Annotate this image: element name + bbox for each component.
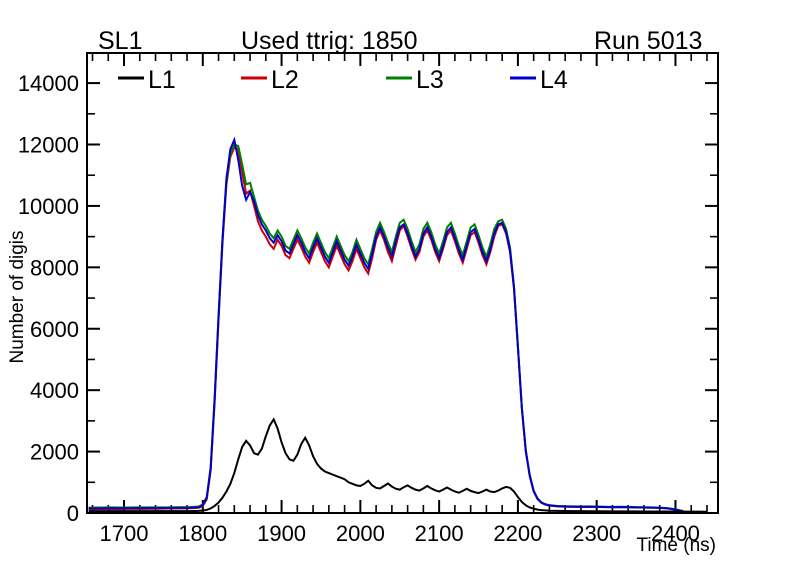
y-tick-label: 2000: [30, 440, 79, 465]
y-tick-label: 10000: [18, 194, 79, 219]
y-tick-label: 14000: [18, 71, 79, 96]
root-plot-svg: SL1 Used ttrig: 1850 Run 5013 Number of …: [0, 0, 796, 572]
y-tick-label: 8000: [30, 255, 79, 280]
y-tick-label: 6000: [30, 317, 79, 342]
x-tick-label: 2300: [572, 521, 621, 546]
x-tick-label: 1700: [100, 521, 149, 546]
ttrig-title: Used ttrig: 1850: [241, 27, 418, 55]
legend-label-l1: L1: [148, 66, 176, 94]
run-label: Run 5013: [594, 27, 702, 55]
sl-label: SL1: [98, 27, 142, 55]
x-tick-label: 2000: [336, 521, 385, 546]
y-tick-label: 4000: [30, 378, 79, 403]
legend-label-l4: L4: [540, 66, 568, 94]
y-axis-title: Number of digis: [7, 230, 28, 363]
x-tick-label: 1900: [257, 521, 306, 546]
canvas-background: [0, 0, 796, 572]
y-tick-label: 12000: [18, 133, 79, 158]
legend-label-l3: L3: [416, 66, 444, 94]
x-tick-label: 2400: [651, 521, 700, 546]
x-tick-label: 2100: [415, 521, 464, 546]
x-tick-label: 2200: [493, 521, 542, 546]
legend-label-l2: L2: [271, 66, 299, 94]
x-tick-label: 1800: [178, 521, 227, 546]
y-tick-label: 0: [67, 501, 79, 526]
plot-canvas: SL1 Used ttrig: 1850 Run 5013 Number of …: [0, 0, 796, 572]
